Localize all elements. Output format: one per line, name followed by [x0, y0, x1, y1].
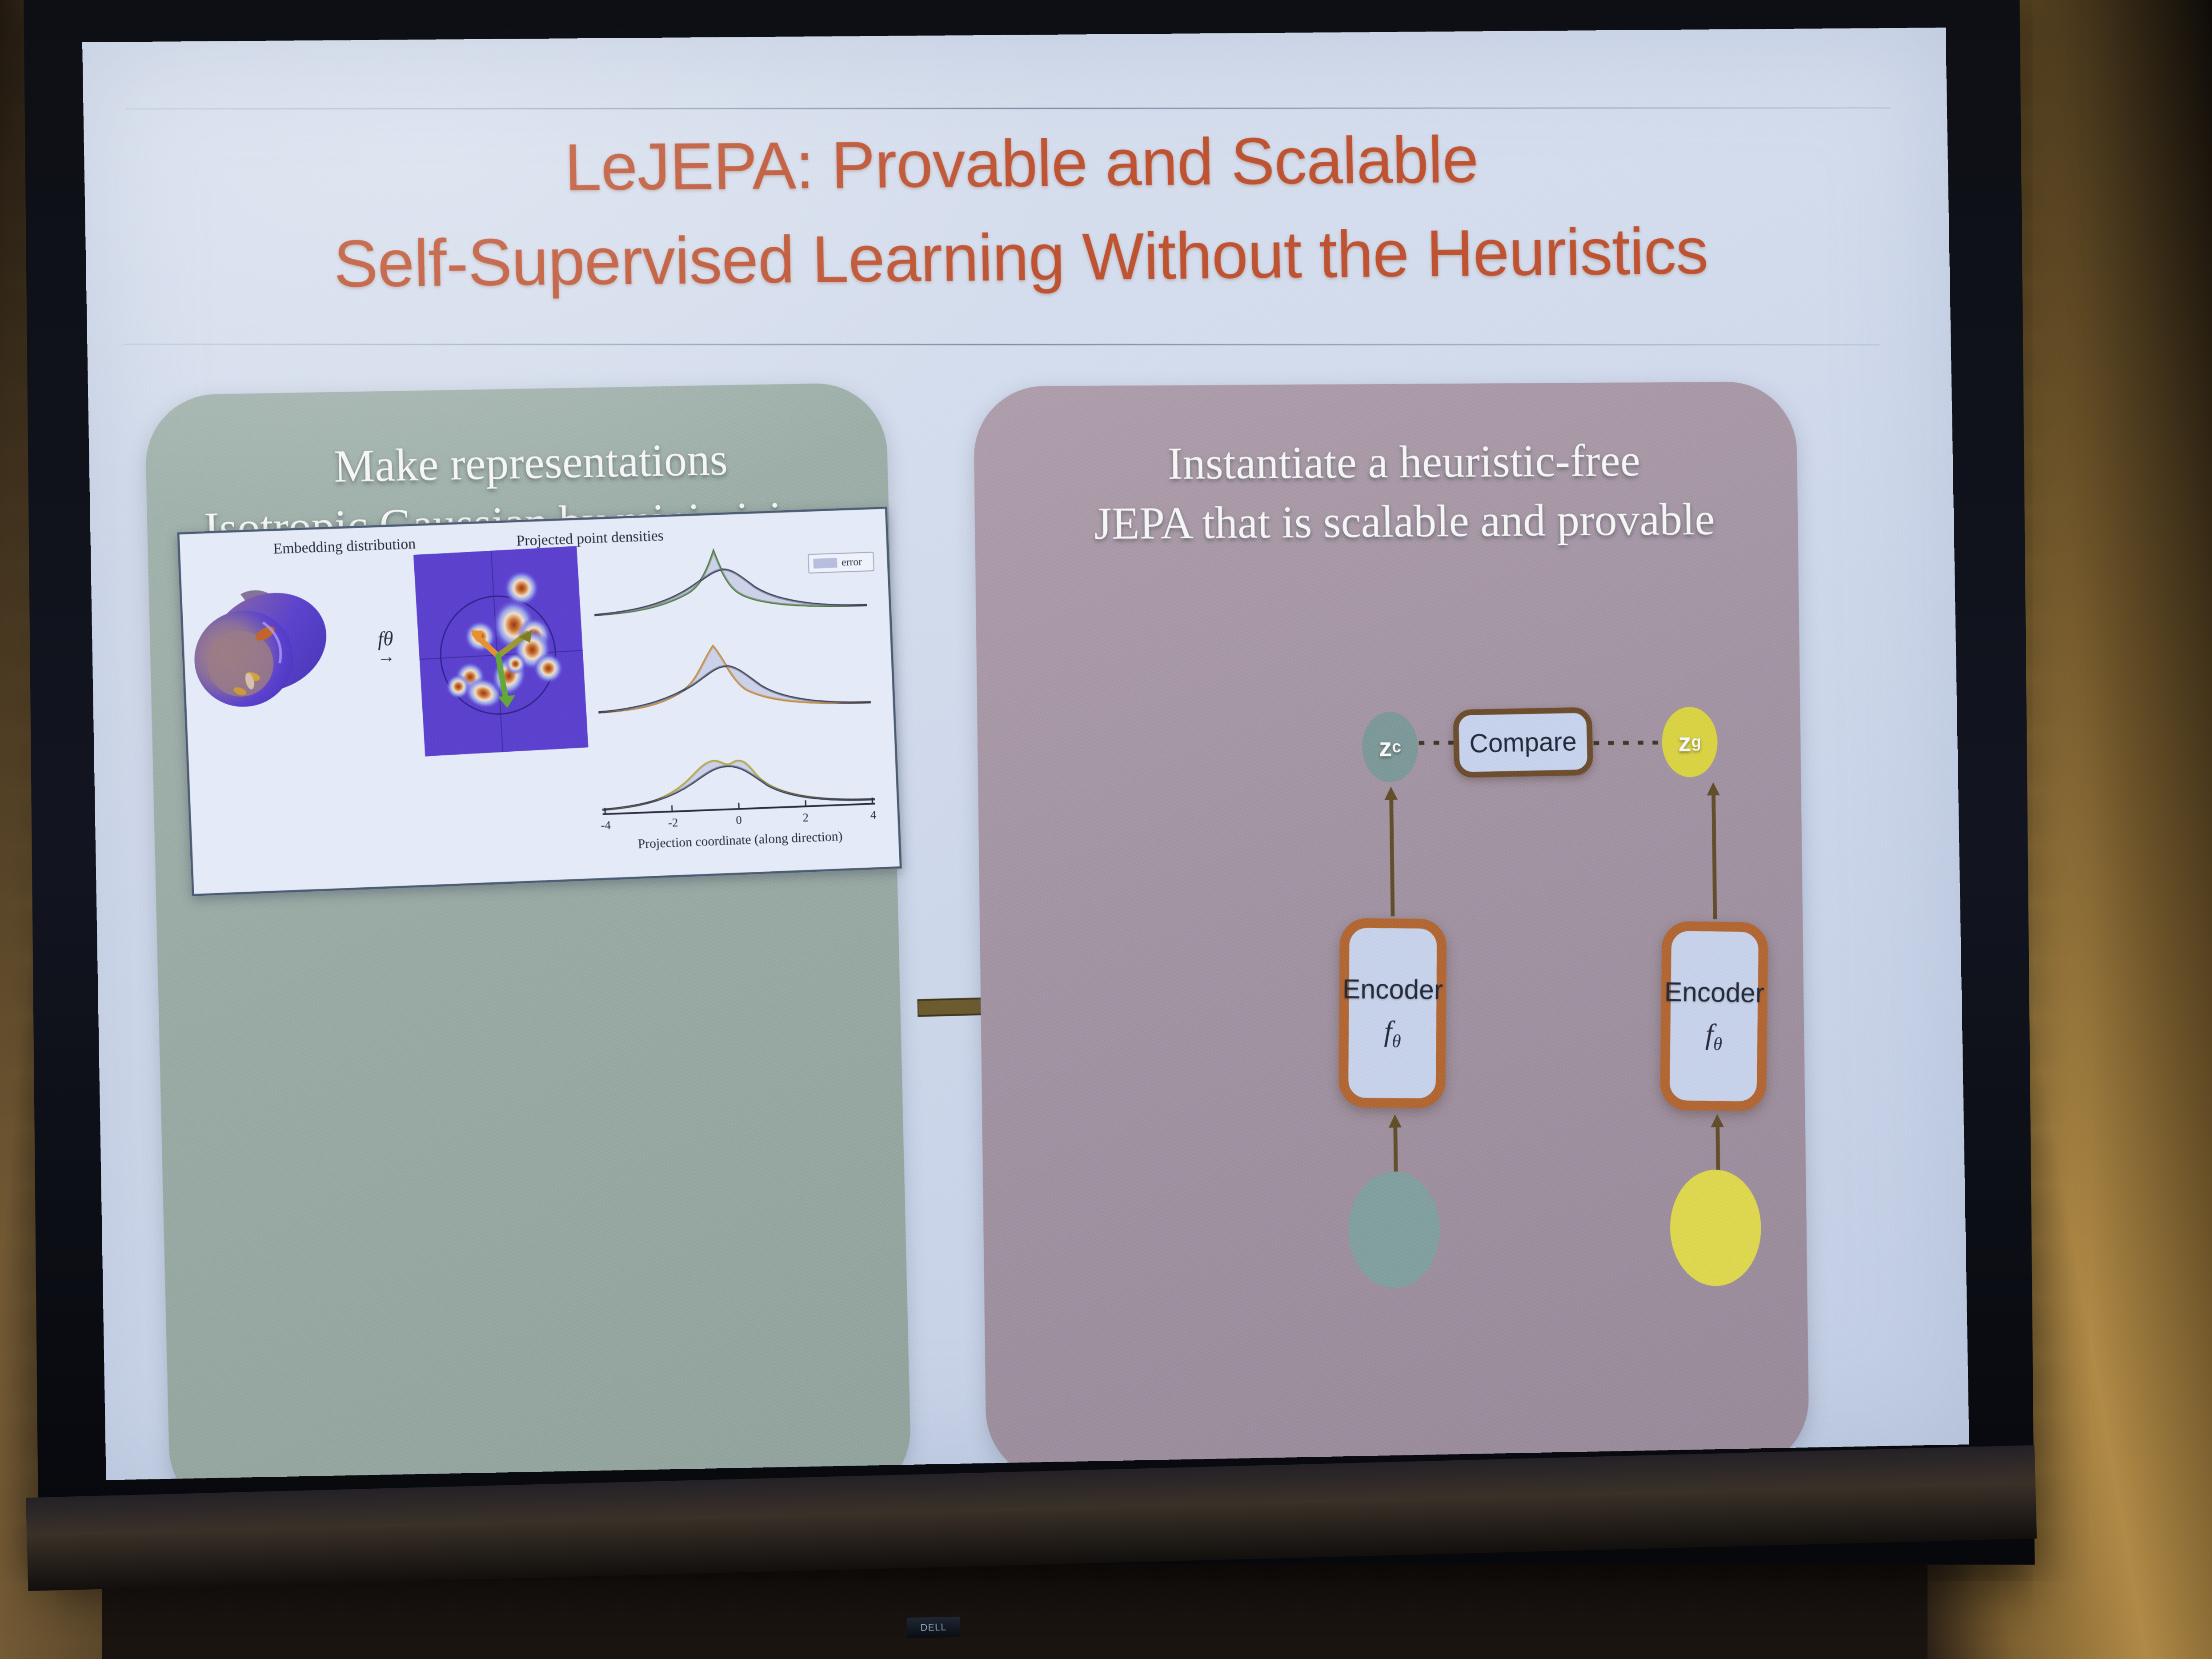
density-plot-xlabel: Projection coordinate (along direction): [590, 827, 890, 854]
legend-label-error: error: [841, 556, 862, 569]
presentation-slide: LeJEPA: Provable and Scalable Self-Super…: [82, 28, 1969, 1480]
encoder-right-function: fθ: [1705, 1018, 1723, 1055]
input-view-c-blob: [1348, 1171, 1441, 1289]
xtick-3: 2: [802, 811, 809, 825]
display-brand-text: DELL: [920, 1621, 947, 1633]
encoder-right-node: Encoder fθ: [1660, 921, 1768, 1111]
encoder-right-label: Encoder: [1664, 977, 1765, 1009]
encoder-left-node: Encoder fθ: [1338, 918, 1447, 1108]
xtick-4: 4: [870, 808, 877, 822]
latent-zc-node: zc: [1362, 712, 1418, 783]
latent-zg-symbol: z: [1678, 727, 1691, 757]
xtick-0: -4: [601, 818, 611, 833]
latent-zc-subscript: c: [1392, 737, 1401, 757]
slide-title-line-1: LeJEPA: Provable and Scalable: [84, 108, 1948, 219]
manifold-map-label: fθ →: [358, 628, 413, 665]
heatmap-title: Embedding distribution: [273, 536, 416, 558]
encoder-right-fn: f: [1705, 1018, 1714, 1050]
xtick-2: 0: [736, 813, 742, 827]
slide-title: LeJEPA: Provable and Scalable Self-Super…: [84, 108, 1950, 314]
arrow-shaft: [1711, 793, 1717, 919]
title-rule-top: [125, 107, 1891, 109]
latent-zg-node: zg: [1662, 707, 1718, 777]
embedded-figure: Embedding distribution Projected point d…: [177, 507, 902, 897]
encoder-left-fn: f: [1384, 1015, 1392, 1047]
dotted-connector-right: [1593, 741, 1663, 745]
dotted-connector-left: [1419, 741, 1453, 745]
arrow-encoder-c-to-zc: [1384, 786, 1399, 916]
slide-title-line-2: Self-Supervised Learning Without the Heu…: [85, 202, 1950, 314]
embedding-distribution-heatmap: [413, 546, 588, 756]
encoder-left-function: fθ: [1384, 1015, 1401, 1052]
arrow-shaft: [1393, 1126, 1398, 1171]
latent-zg-subscript: g: [1691, 733, 1701, 752]
latent-zc-symbol: z: [1378, 732, 1392, 762]
manifold-arrow-icon: →: [359, 647, 413, 665]
right-heading-line-2: JEPA that is scalable and provable: [992, 489, 1815, 554]
compare-node: Compare: [1453, 707, 1593, 778]
arrow-shaft: [1715, 1126, 1720, 1171]
arrow-shaft: [1389, 798, 1395, 916]
right-panel: Instantiate a heuristic-free JEPA that i…: [973, 381, 1809, 1480]
density-plot-legend: error: [808, 552, 874, 573]
right-panel-heading: Instantiate a heuristic-free JEPA that i…: [974, 429, 1832, 554]
display-brand-logo: DELL: [907, 1617, 961, 1639]
xtick-1: -2: [668, 816, 678, 830]
encoder-right-sub: θ: [1713, 1034, 1723, 1055]
legend-swatch-error: [813, 558, 837, 569]
right-heading-line-1: Instantiate a heuristic-free: [991, 429, 1815, 494]
input-view-g-blob: [1669, 1169, 1762, 1286]
arrow-input-c-to-encoder: [1388, 1114, 1402, 1172]
manifold-illustration: [188, 573, 353, 725]
encoder-left-label: Encoder: [1342, 974, 1443, 1006]
title-rule-bottom: [123, 344, 1879, 345]
density-plot-title: Projected point densities: [516, 528, 664, 550]
arrow-input-g-to-encoder: [1711, 1114, 1724, 1171]
projected-point-densities-plot: [592, 539, 876, 832]
encoder-left-sub: θ: [1392, 1031, 1401, 1052]
arrow-encoder-g-to-zg: [1707, 782, 1721, 919]
